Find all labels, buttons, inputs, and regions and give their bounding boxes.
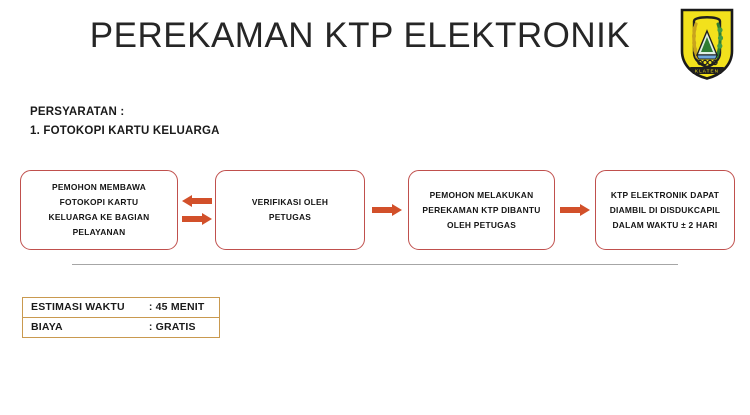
flow-step-3-line-2: PEREKAMAN KTP DIBANTU [416, 203, 547, 218]
page-title: PEREKAMAN KTP ELEKTRONIK [60, 16, 660, 56]
estimasi-waktu-value: : 45 MENIT [131, 298, 219, 318]
flow-step-4[interactable]: KTP ELEKTRONIK DAPAT DIAMBIL DI DISDUKCA… [595, 170, 735, 250]
arrow-right-icon [372, 204, 402, 217]
flow-step-2-line-1: VERIFIKASI OLEH [223, 195, 357, 210]
arrow-right-icon [182, 213, 212, 226]
flow-step-3-line-3: OLEH PETUGAS [416, 218, 547, 233]
summary-info-table: ESTIMASI WAKTU : 45 MENIT BIAYA : GRATIS [22, 297, 220, 338]
flow-connector-2-3 [365, 170, 408, 250]
flow-step-4-line-1: KTP ELEKTRONIK DAPAT [603, 188, 727, 203]
kabupaten-klaten-emblem: KLATEN [679, 7, 735, 81]
requirements-heading: PERSYARATAN : [30, 103, 220, 122]
table-row: ESTIMASI WAKTU : 45 MENIT [23, 298, 219, 318]
arrow-left-icon [182, 195, 212, 208]
flow-step-4-line-2: DIAMBIL DI DISDUKCAPIL [603, 203, 727, 218]
arrow-right-icon [560, 204, 590, 217]
table-row: BIAYA : GRATIS [23, 318, 219, 338]
svg-text:KLATEN: KLATEN [695, 68, 719, 73]
flow-step-3[interactable]: PEMOHON MELAKUKAN PEREKAMAN KTP DIBANTU … [408, 170, 555, 250]
horizontal-divider [72, 264, 678, 265]
biaya-value: : GRATIS [131, 318, 219, 338]
flow-step-2[interactable]: VERIFIKASI OLEH PETUGAS [215, 170, 365, 250]
flow-step-1[interactable]: PEMOHON MEMBAWA FOTOKOPI KARTU KELUARGA … [20, 170, 178, 250]
flow-connector-1-2 [178, 170, 215, 250]
biaya-label: BIAYA [23, 318, 131, 338]
flow-connector-3-4 [555, 170, 595, 250]
flow-step-2-line-2: PETUGAS [223, 210, 357, 225]
requirement-item-1: 1. FOTOKOPI KARTU KELUARGA [30, 122, 220, 141]
process-flow-diagram: PEMOHON MEMBAWA FOTOKOPI KARTU KELUARGA … [0, 170, 750, 252]
estimasi-waktu-label: ESTIMASI WAKTU [23, 298, 131, 318]
flow-step-1-line-1: PEMOHON MEMBAWA [28, 180, 170, 195]
flow-step-4-line-3: DALAM WAKTU ± 2 HARI [603, 218, 727, 233]
requirements-block: PERSYARATAN : 1. FOTOKOPI KARTU KELUARGA [30, 103, 220, 141]
flow-step-1-line-2: FOTOKOPI KARTU [28, 195, 170, 210]
flow-step-1-line-4: PELAYANAN [28, 225, 170, 240]
flow-step-1-line-3: KELUARGA KE BAGIAN [28, 210, 170, 225]
flow-step-3-line-1: PEMOHON MELAKUKAN [416, 188, 547, 203]
